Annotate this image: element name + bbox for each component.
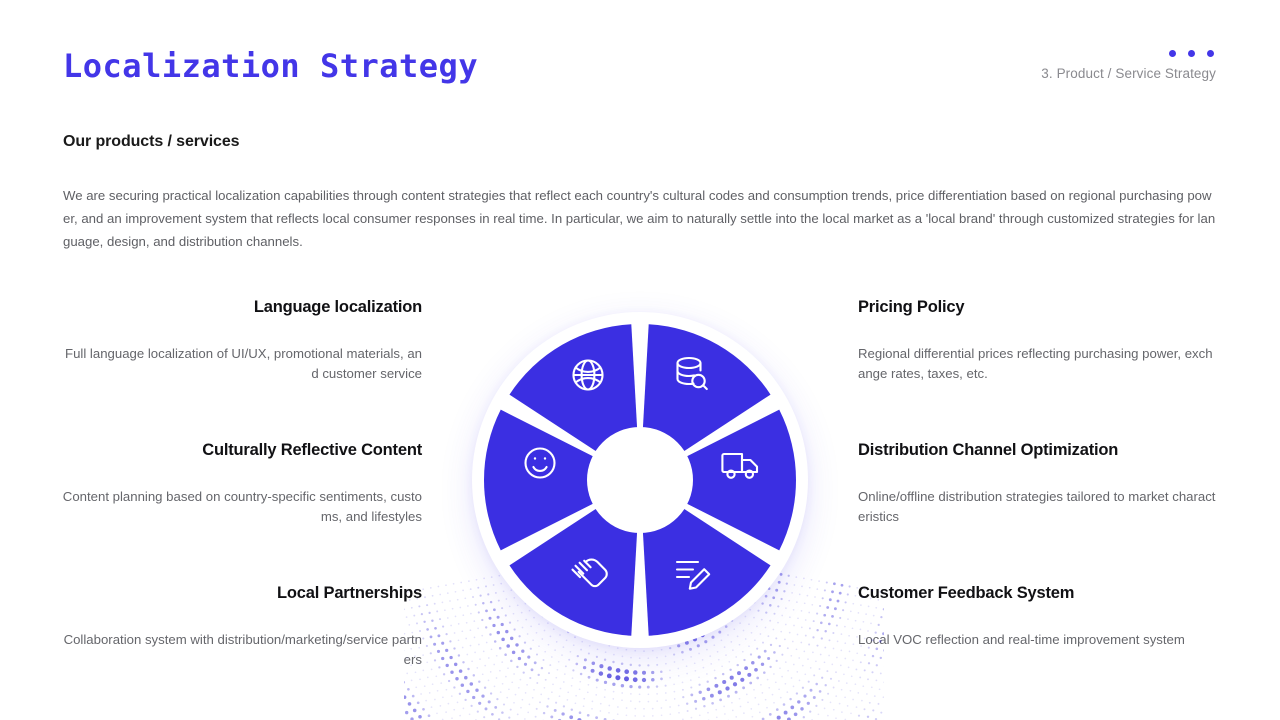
feature-description: Collaboration system with distribution/m… <box>62 630 422 670</box>
segmented-wheel <box>472 312 808 648</box>
feature-description: Regional differential prices reflecting … <box>858 344 1218 384</box>
three-dots-icon <box>1041 50 1216 57</box>
feature-title: Language localization <box>62 296 422 318</box>
feature-item: Culturally Reflective Content Content pl… <box>62 439 422 582</box>
feature-title: Pricing Policy <box>858 296 1218 318</box>
slide-root: Localization Strategy 3. Product / Servi… <box>0 0 1280 720</box>
feature-description: Content planning based on country-specif… <box>62 487 422 527</box>
wheel-svg <box>472 312 808 648</box>
feature-title: Customer Feedback System <box>858 582 1218 604</box>
right-column: Pricing Policy Regional differential pri… <box>858 296 1218 720</box>
feature-item: Pricing Policy Regional differential pri… <box>858 296 1218 439</box>
header-right: 3. Product / Service Strategy <box>1041 50 1216 81</box>
feature-title: Local Partnerships <box>62 582 422 604</box>
wheel-hub <box>587 427 693 533</box>
feature-item: Local Partnerships Collaboration system … <box>62 582 422 720</box>
feature-description: Local VOC reflection and real-time impro… <box>858 630 1218 650</box>
feature-description: Online/offline distribution strategies t… <box>858 487 1218 527</box>
feature-description: Full language localization of UI/UX, pro… <box>62 344 422 384</box>
feature-title: Culturally Reflective Content <box>62 439 422 461</box>
page-title: Localization Strategy <box>63 47 478 85</box>
feature-item: Distribution Channel Optimization Online… <box>858 439 1218 582</box>
left-column: Language localization Full language loca… <box>62 296 422 720</box>
feature-title: Distribution Channel Optimization <box>858 439 1218 461</box>
subtitle: Our products / services <box>63 133 239 151</box>
section-label: 3. Product / Service Strategy <box>1041 66 1216 81</box>
intro-paragraph: We are securing practical localization c… <box>63 184 1218 253</box>
feature-item: Customer Feedback System Local VOC refle… <box>858 582 1218 720</box>
feature-item: Language localization Full language loca… <box>62 296 422 439</box>
